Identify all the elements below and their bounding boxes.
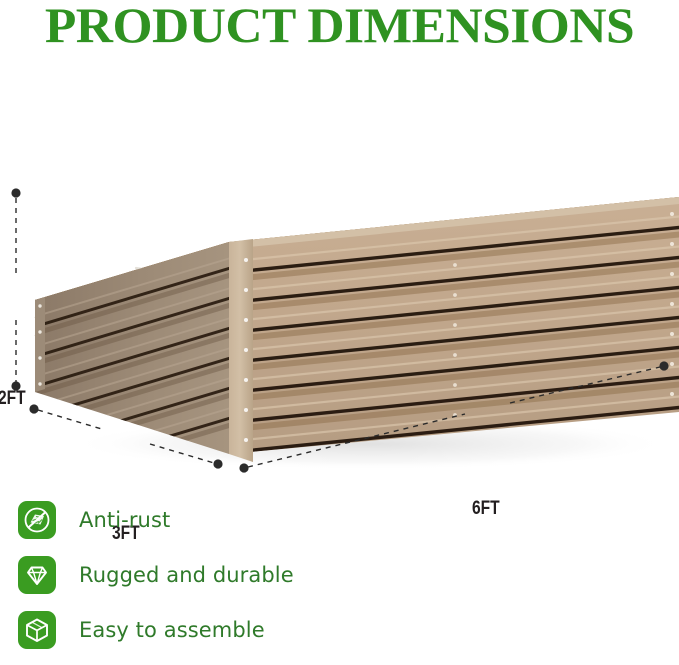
cube-icon xyxy=(18,611,56,649)
dimension-endpoint xyxy=(11,188,20,197)
feature-label: Rugged and durable xyxy=(79,563,294,587)
feature-label: Easy to assemble xyxy=(79,618,265,642)
feature-item-rugged: Rugged and durable xyxy=(18,547,418,602)
feature-item-easy-assemble: Easy to assemble xyxy=(18,602,418,657)
dimension-endpoint xyxy=(29,404,38,413)
dimension-label-height: 2FT xyxy=(0,388,26,410)
dimension-endpoint xyxy=(239,463,248,472)
front-panel xyxy=(224,197,679,454)
page-title: PRODUCT DIMENSIONS xyxy=(0,0,679,54)
product-illustration: 2FT 3FT 6FT xyxy=(0,92,679,492)
diamond-icon xyxy=(18,556,56,594)
dimension-label-width: 6FT xyxy=(472,498,500,520)
front-left-corner-post xyxy=(229,239,253,462)
dimension-endpoint xyxy=(659,361,668,370)
no-rust-icon xyxy=(18,501,56,539)
feature-list: Anti-rust Rugged and durable Easy to ass… xyxy=(18,492,418,657)
infographic-root: PRODUCT DIMENSIONS xyxy=(0,0,679,665)
dimension-endpoint xyxy=(213,459,222,468)
feature-item-anti-rust: Anti-rust xyxy=(18,492,418,547)
feature-label: Anti-rust xyxy=(79,508,170,532)
